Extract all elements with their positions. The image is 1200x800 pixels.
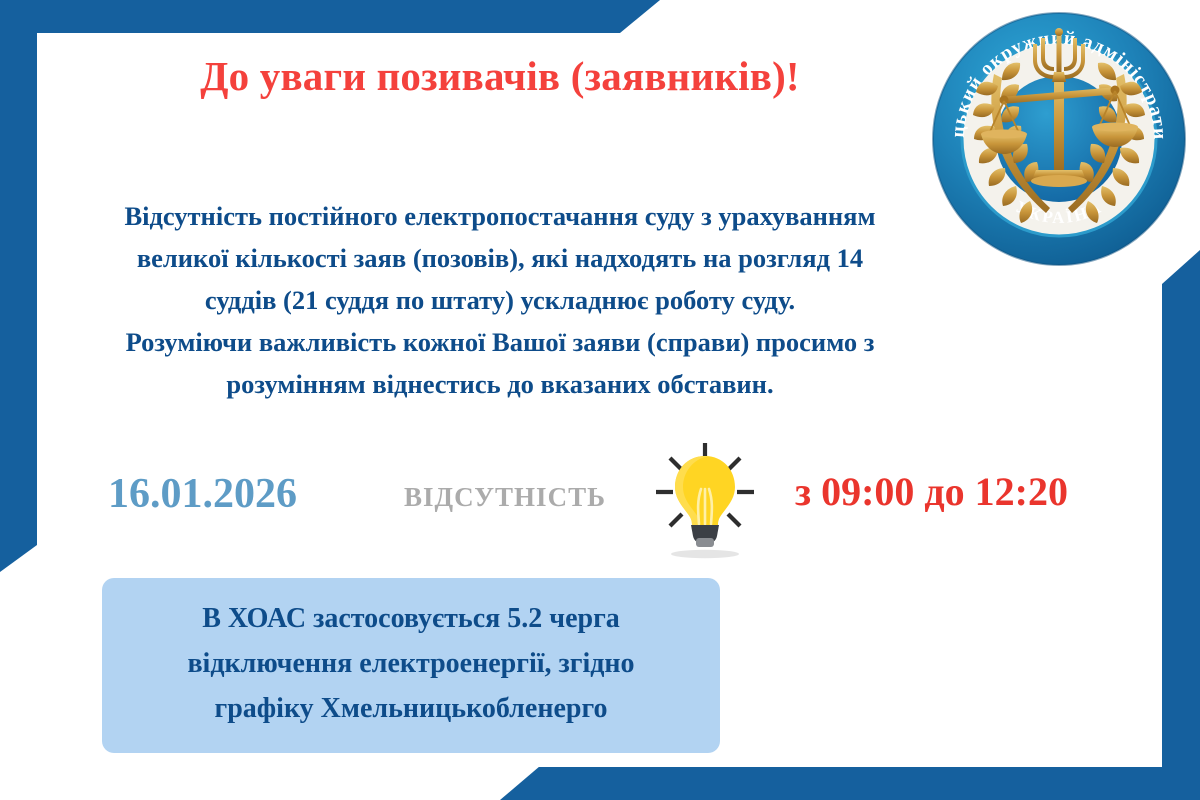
notice-line: відключення електроенергії, згідно [128, 641, 694, 686]
outage-time-range: з 09:00 до 12:20 [795, 468, 1068, 515]
outage-date: 16.01.2026 [108, 470, 297, 518]
notice-line: графіку Хмельницькобленерго [128, 686, 694, 731]
body-line: великої кількості заяв (позовів), які на… [40, 237, 960, 279]
body-line: Розуміючи важливість кожної Вашої заяви … [40, 321, 960, 363]
court-emblem-icon: Хмельницький окружний адміністративний с… [928, 8, 1190, 270]
outage-info-row: 16.01.2026 ВІДСУТНІСТЬ [0, 455, 1200, 565]
body-line: Відсутність постійного електропостачання… [40, 195, 960, 237]
notice-box: В ХОАС застосовується 5.2 черга відключе… [102, 578, 720, 753]
outage-label: ВІДСУТНІСТЬ [404, 482, 606, 513]
announcement-body: Відсутність постійного електропостачання… [40, 195, 960, 405]
poster-canvas: До уваги позивачів (заявників)! Відсутні… [0, 0, 1200, 800]
lightbulb-icon [640, 435, 770, 560]
notice-line: В ХОАС застосовується 5.2 черга [128, 596, 694, 641]
body-line: розумінням віднестись до вказаних обстав… [40, 363, 960, 405]
page-title: До уваги позивачів (заявників)! [60, 52, 940, 100]
decor-band-top [0, 0, 660, 33]
decor-band-bottom [500, 766, 1200, 800]
body-line: суддів (21 суддя по штату) ускладнює роб… [40, 279, 960, 321]
